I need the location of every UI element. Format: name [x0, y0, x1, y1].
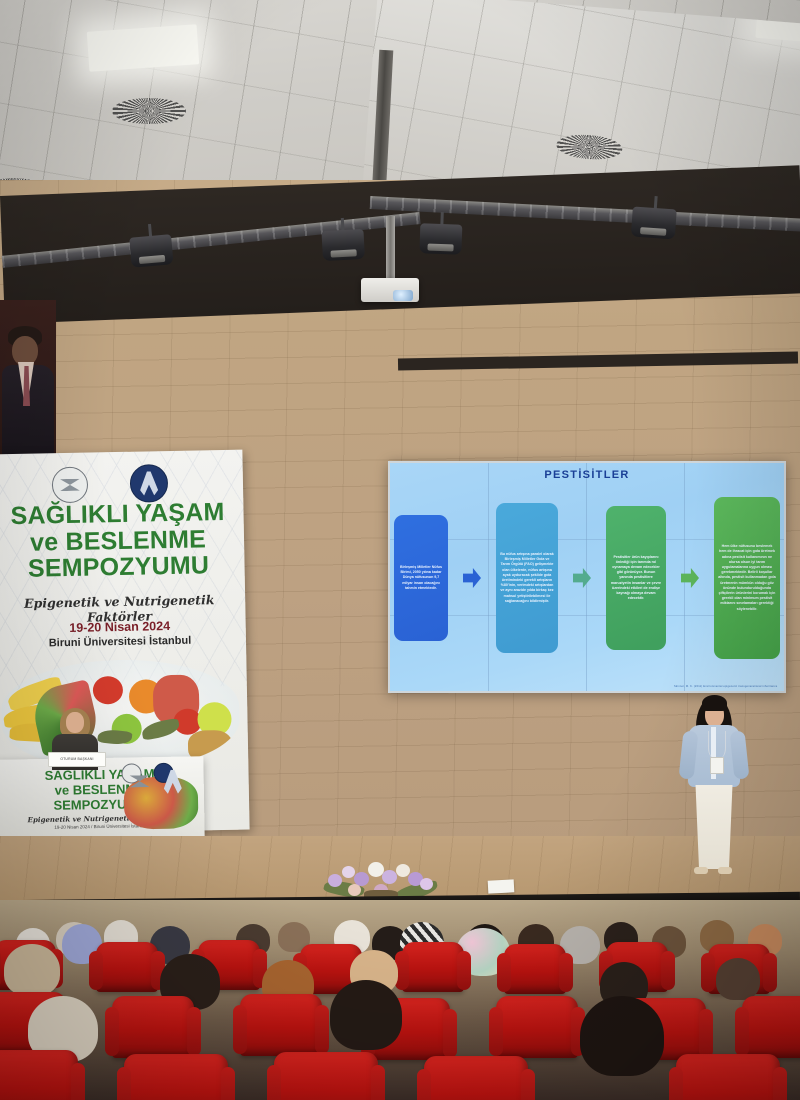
- projector-lens: [393, 290, 413, 301]
- presenter-badge: [710, 757, 724, 774]
- presenter-shoe: [694, 867, 708, 874]
- auditorium-seat: [124, 1054, 228, 1100]
- attendee-head: [4, 944, 60, 996]
- fruit-tomato: [93, 676, 124, 705]
- auditorium-seat: [676, 1054, 780, 1100]
- light-lens: [139, 255, 165, 264]
- arrow-right-icon: [573, 568, 591, 588]
- arrow-right-icon: [463, 568, 481, 588]
- association-logo-icon: [52, 467, 89, 504]
- portrait-face: [12, 336, 38, 366]
- nutrition-logo-icon: [130, 464, 169, 503]
- presenter-skirt: [692, 785, 736, 869]
- slide-box-2-text: Bu nüfus artışına paralel olarak Birleşm…: [500, 552, 554, 604]
- light-body: [419, 223, 462, 254]
- vegetable-leaf: [140, 718, 180, 741]
- slide-box-4: Hem ülke nüfusunu beslemek hem de ihraca…: [714, 497, 780, 659]
- ceiling-vent: [112, 98, 186, 124]
- paper-on-stage: [488, 879, 515, 893]
- auditorium-seat: [424, 1056, 528, 1100]
- flower-bloom: [328, 874, 342, 887]
- podium-logo-right-icon: [153, 763, 173, 783]
- slide-flow-diagram: Birleşmiş Milletler Nüfus Birimi, 2050 y…: [394, 487, 780, 669]
- slide-box-3-text: Pestisitler ürün kayıplarını önlediği iç…: [610, 555, 662, 602]
- banner-title-line3: SEMPOZYUMU: [0, 551, 245, 582]
- moderator-head: [66, 712, 84, 733]
- projector-mount-rod: [386, 216, 395, 278]
- slide-box-1: Birleşmiş Milletler Nüfus Birimi, 2050 y…: [394, 515, 448, 641]
- auditorium-seat: [0, 1050, 78, 1100]
- slide-title: PESTİSİTLER: [390, 469, 784, 481]
- audience-area: [0, 900, 800, 1100]
- light-body: [631, 206, 677, 239]
- flower-bloom: [342, 866, 355, 878]
- panel-light: [87, 24, 200, 72]
- slide-box-2: Bu nüfus artışına paralel olarak Birleşm…: [496, 503, 558, 653]
- stage-light: [630, 195, 677, 246]
- projection-screen: PESTİSİTLER Birleşmiş Milletler Nüfus Bi…: [390, 463, 784, 691]
- auditorium-seat: [96, 942, 158, 992]
- attendee-head: [580, 996, 664, 1076]
- auditorium-seat: [504, 944, 566, 994]
- flower-bloom: [382, 870, 397, 884]
- presenter-lanyard: [708, 731, 726, 759]
- projection-screen-frame: PESTİSİTLER Birleşmiş Milletler Nüfus Bi…: [388, 461, 786, 693]
- attendee-head: [330, 980, 402, 1050]
- stage-light: [419, 211, 463, 258]
- nameplate-text: OTURUM BAŞKANI: [49, 757, 105, 761]
- banner-title-line1: SAĞLIKLI YAŞAM: [0, 500, 244, 530]
- arrow-right-icon: [681, 568, 699, 588]
- stage-light: [128, 222, 174, 271]
- banner-food-image: [0, 658, 240, 773]
- podium-sign: SAĞLIKLI YAŞAM ve BESLENME SEMPOZYUMU Ep…: [0, 756, 205, 842]
- light-lens: [331, 249, 357, 257]
- podium-logo-left-icon: [121, 763, 141, 783]
- slide-box-4-text: Hem ülke nüfusunu beslemek hem de ihraca…: [718, 544, 776, 612]
- auditorium-seat: [240, 994, 322, 1056]
- light-lens: [640, 227, 667, 236]
- wall-portrait: [0, 300, 56, 475]
- presenter-shoe: [718, 867, 732, 874]
- flower-bloom: [420, 878, 433, 890]
- attendee-head: [716, 958, 760, 1000]
- slide-box-3: Pestisitler ürün kayıplarını önlediği iç…: [606, 506, 666, 650]
- podium-food-image: [124, 776, 199, 829]
- auditorium-seat: [496, 996, 578, 1058]
- nameplate: OTURUM BAŞKANI: [48, 752, 106, 767]
- light-body: [129, 234, 173, 268]
- light-body: [321, 229, 365, 261]
- flower-bloom: [348, 884, 361, 896]
- auditorium-photo: PESTİSİTLER Birleşmiş Milletler Nüfus Bi…: [0, 0, 800, 1100]
- auditorium-seat: [112, 996, 194, 1058]
- ceiling-projector: [361, 278, 419, 302]
- banner-title: SAĞLIKLI YAŞAM ve BESLENME SEMPOZYUMU: [0, 500, 245, 583]
- slide-credit: Skinner, M. K. (2011) Environmental epig…: [674, 685, 777, 688]
- stage-light: [321, 217, 365, 265]
- presenter-hair-top: [702, 695, 727, 711]
- auditorium-seat: [402, 942, 464, 992]
- auditorium-seat: [274, 1052, 378, 1100]
- presenter: [678, 695, 750, 880]
- slide-box-1-text: Birleşmiş Milletler Nüfus Birimi, 2050 y…: [398, 565, 444, 591]
- auditorium-seat: [742, 996, 800, 1058]
- light-lens: [428, 244, 453, 252]
